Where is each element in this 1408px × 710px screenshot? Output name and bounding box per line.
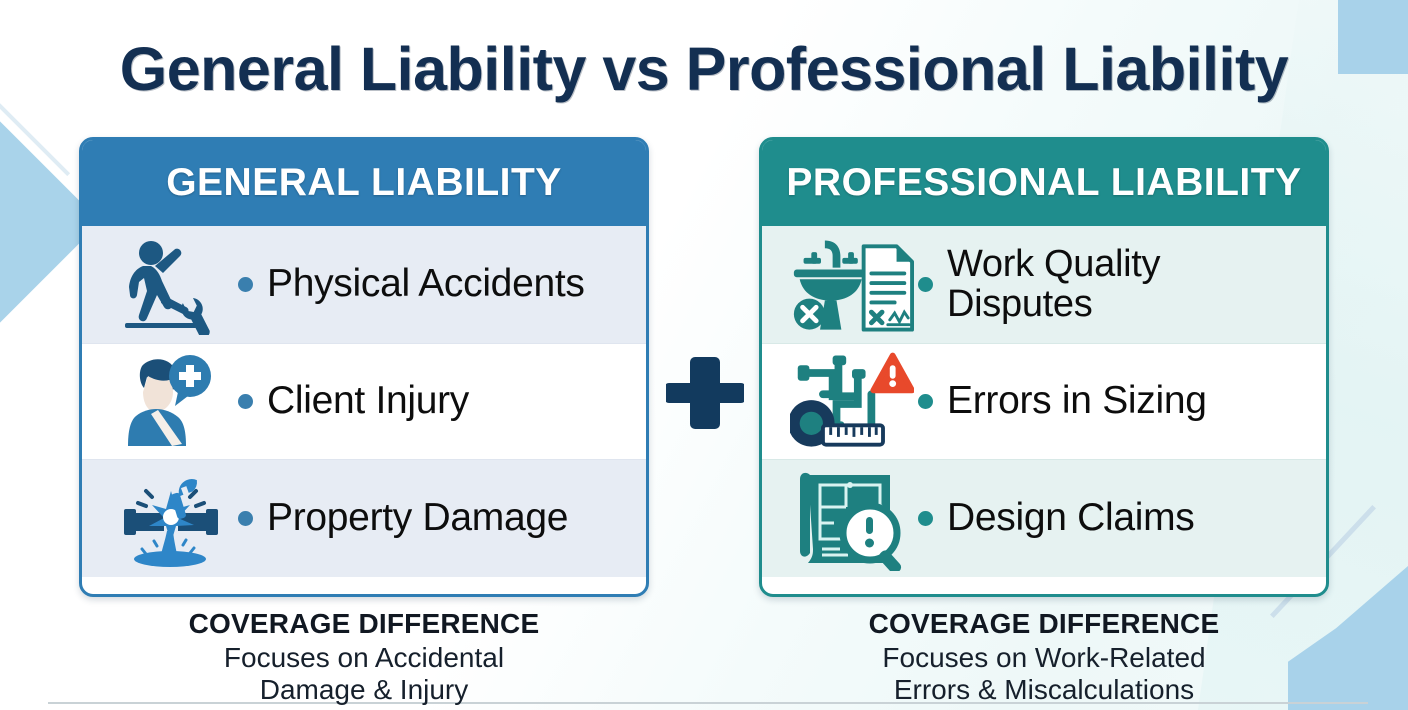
coverage-difference-text: Focuses on Accidental Damage & Injury xyxy=(79,642,649,705)
coverage-difference-line1: Focuses on Work-Related xyxy=(882,642,1205,673)
infographic-canvas: General Liability vs Professional Liabil… xyxy=(0,0,1408,710)
bullet-dot xyxy=(238,394,253,409)
coverage-difference-title: COVERAGE DIFFERENCE xyxy=(79,608,649,640)
list-item-label: Physical Accidents xyxy=(267,264,585,305)
list-item-label: Property Damage xyxy=(267,498,568,539)
coverage-difference-text: Focuses on Work-Related Errors & Miscalc… xyxy=(759,642,1329,705)
general-liability-rows: Physical Accidents Client Inju xyxy=(82,226,646,577)
blueprint-magnifier-icon xyxy=(790,467,914,571)
general-liability-footer: COVERAGE DIFFERENCE Focuses on Accidenta… xyxy=(79,608,649,705)
plus-icon xyxy=(666,354,744,432)
list-item[interactable]: Property Damage xyxy=(82,460,646,577)
list-item-label-line1: Work Quality xyxy=(947,243,1160,285)
list-item-label: Design Claims xyxy=(947,498,1195,539)
bullet-dot xyxy=(918,511,933,526)
bullet-dot xyxy=(918,277,933,292)
coverage-difference-line2: Errors & Miscalculations xyxy=(894,674,1194,705)
coverage-difference-title: COVERAGE DIFFERENCE xyxy=(759,608,1329,640)
list-item-label: Errors in Sizing xyxy=(947,381,1207,422)
list-item-label: Work Quality Disputes xyxy=(947,245,1160,325)
professional-liability-header: PROFESSIONAL LIABILITY xyxy=(762,140,1326,226)
burst-pipe-icon xyxy=(110,467,234,571)
list-item-label-line2: Disputes xyxy=(947,283,1092,325)
pipes-tape-measure-warning-icon xyxy=(790,350,914,454)
list-item[interactable]: Client Injury xyxy=(82,343,646,460)
bullet-dot xyxy=(238,277,253,292)
general-liability-header: GENERAL LIABILITY xyxy=(82,140,646,226)
sink-document-error-icon xyxy=(790,233,914,337)
page-title: General Liability vs Professional Liabil… xyxy=(0,34,1408,104)
bullet-dot xyxy=(918,394,933,409)
list-item[interactable]: Physical Accidents xyxy=(82,226,646,343)
person-slipping-icon xyxy=(110,233,234,337)
coverage-difference-line1: Focuses on Accidental xyxy=(224,642,504,673)
injured-person-icon xyxy=(110,350,234,454)
professional-liability-footer: COVERAGE DIFFERENCE Focuses on Work-Rela… xyxy=(759,608,1329,705)
list-item[interactable]: Work Quality Disputes xyxy=(762,226,1326,343)
coverage-difference-line2: Damage & Injury xyxy=(260,674,469,705)
general-liability-card: GENERAL LIABILITY xyxy=(79,137,649,597)
list-item[interactable]: Errors in Sizing xyxy=(762,343,1326,460)
bullet-dot xyxy=(238,511,253,526)
list-item[interactable]: Design Claims xyxy=(762,460,1326,577)
professional-liability-rows: Work Quality Disputes xyxy=(762,226,1326,577)
list-item-label: Client Injury xyxy=(267,381,469,422)
professional-liability-card: PROFESSIONAL LIABILITY xyxy=(759,137,1329,597)
